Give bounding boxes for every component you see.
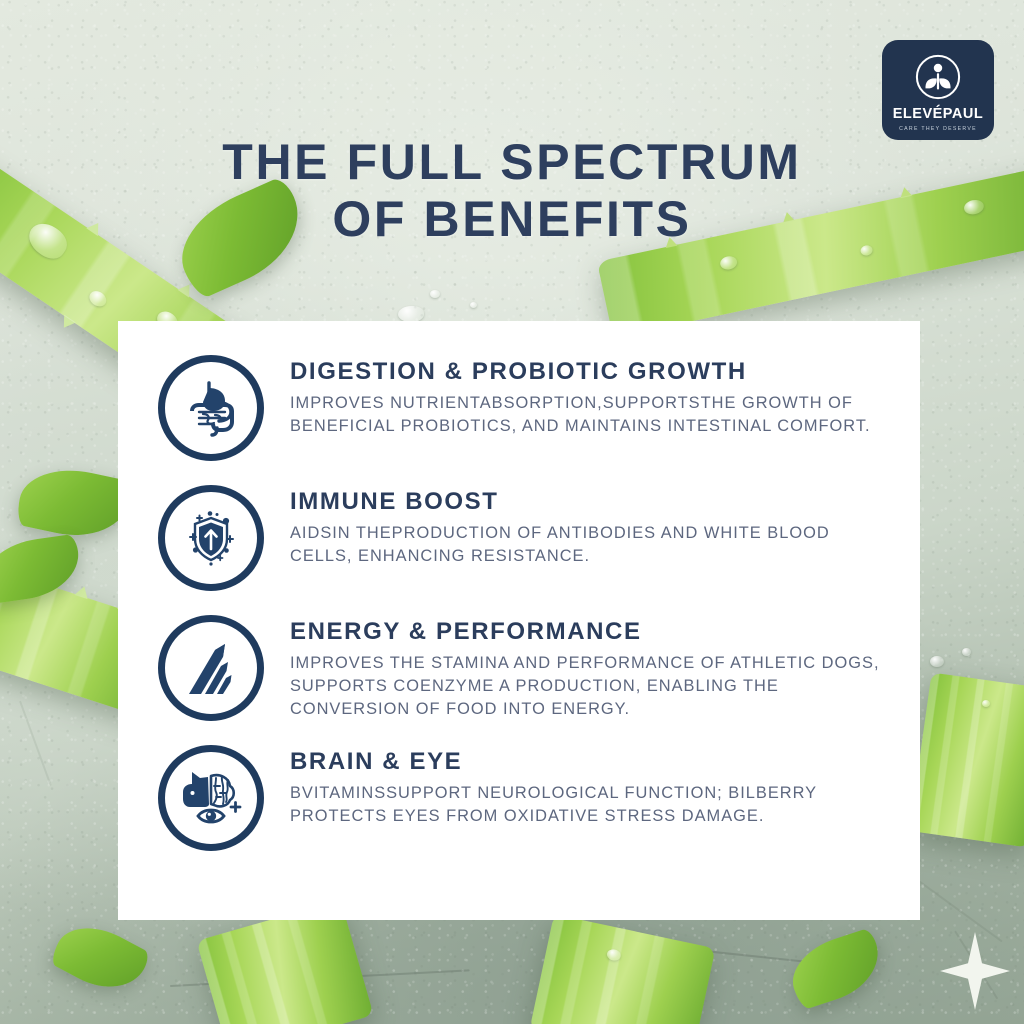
benefit-text-block: DIGESTION & PROBIOTIC GROWTH IMPROVES NU… [290, 349, 880, 438]
rising-arrows-icon [179, 636, 243, 700]
benefit-title: IMMUNE BOOST [290, 489, 880, 515]
benefit-icon-ring [158, 485, 264, 591]
water-droplet [982, 700, 990, 707]
benefit-description: BVITAMINSSUPPORT NEUROLOGICAL FUNCTION; … [290, 782, 880, 827]
water-droplet [430, 290, 440, 298]
benefit-text-block: IMMUNE BOOST AIDSIN THEPRODUCTION OF ANT… [290, 479, 880, 568]
benefit-item: DIGESTION & PROBIOTIC GROWTH IMPROVES NU… [158, 349, 886, 461]
benefits-card: DIGESTION & PROBIOTIC GROWTH IMPROVES NU… [118, 321, 920, 920]
page-title: THE FULL SPECTRUM OF BENEFITS [0, 134, 1024, 248]
water-droplet [398, 306, 424, 322]
title-line-1: THE FULL SPECTRUM [222, 134, 801, 190]
plant-sprout-person-icon [913, 52, 963, 102]
water-droplet [930, 656, 944, 667]
poster-canvas: ELEVÉPAUL CARE THEY DESERVE THE FULL SPE… [0, 0, 1024, 1024]
benefit-text-block: ENERGY & PERFORMANCE IMPROVES THE STAMIN… [290, 609, 880, 720]
benefit-item: IMMUNE BOOST AIDSIN THEPRODUCTION OF ANT… [158, 479, 886, 591]
water-droplet [606, 948, 622, 962]
benefit-icon-ring [158, 355, 264, 461]
brand-logo-badge[interactable]: ELEVÉPAUL CARE THEY DESERVE [882, 40, 994, 140]
water-droplet [962, 648, 971, 656]
benefit-title: DIGESTION & PROBIOTIC GROWTH [290, 359, 880, 385]
water-droplet [470, 302, 477, 308]
brand-name: ELEVÉPAUL [893, 107, 983, 122]
benefit-item: BRAIN & EYE BVITAMINSSUPPORT NEUROLOGICA… [158, 739, 886, 851]
benefit-description: IMPROVES NUTRIENTABSORPTION,SUPPORTSTHE … [290, 392, 880, 437]
water-droplet [719, 255, 738, 271]
brand-tagline: CARE THEY DESERVE [899, 127, 977, 132]
benefit-description: IMPROVES THE STAMINA AND PERFORMANCE OF … [290, 652, 880, 720]
title-line-2: OF BENEFITS [0, 191, 1024, 248]
dog-brain-eye-icon [178, 766, 244, 830]
shield-arrow-up-icon [179, 506, 243, 570]
benefit-title: BRAIN & EYE [290, 749, 880, 775]
digestive-system-icon [179, 376, 243, 440]
benefit-icon-ring [158, 615, 264, 721]
benefit-item: ENERGY & PERFORMANCE IMPROVES THE STAMIN… [158, 609, 886, 721]
benefit-title: ENERGY & PERFORMANCE [290, 619, 880, 645]
benefit-icon-ring [158, 745, 264, 851]
water-droplet [86, 288, 109, 310]
benefit-description: AIDSIN THEPRODUCTION OF ANTIBODIES AND W… [290, 522, 880, 567]
benefit-text-block: BRAIN & EYE BVITAMINSSUPPORT NEUROLOGICA… [290, 739, 880, 828]
